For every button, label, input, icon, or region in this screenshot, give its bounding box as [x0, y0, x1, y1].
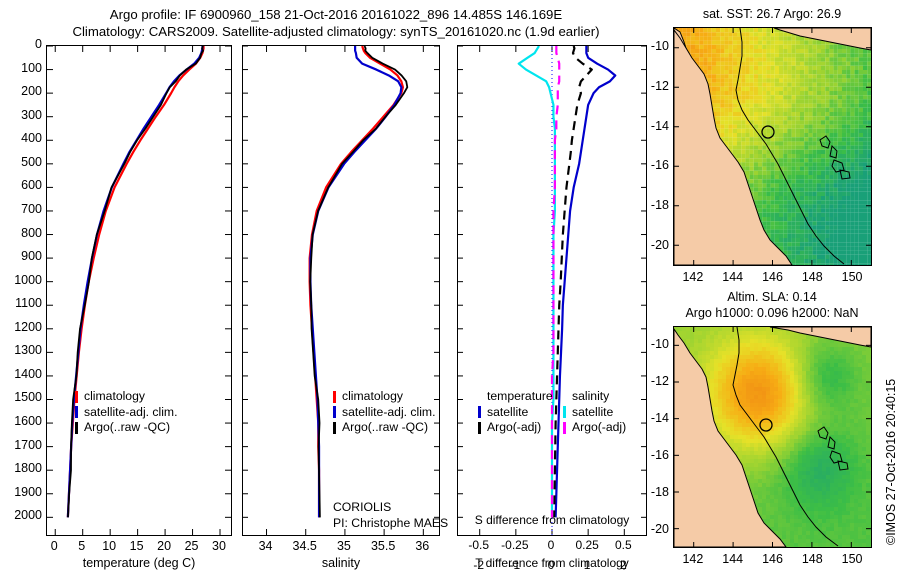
- legend-item-1: satellite-adj. clim.: [333, 405, 435, 421]
- sla-map-svg: [674, 327, 871, 547]
- y-tick-600: 600: [0, 178, 42, 192]
- sla-map-x-tick-148: 148: [792, 552, 832, 566]
- sst-map-y-tick--14: -14: [637, 119, 669, 133]
- legend-swatch-satellite_adj_clim: [75, 406, 78, 418]
- sst-map-x-tick-146: 146: [753, 270, 793, 284]
- salinity-profile-panel: [242, 45, 440, 536]
- legend-header: salinity: [572, 389, 626, 405]
- legend-item-0: climatology: [75, 389, 177, 405]
- x-tick-34: 34: [246, 539, 286, 553]
- legend-label-0: climatology: [342, 389, 403, 405]
- legend-item-0: satellite: [563, 405, 626, 421]
- t-difference-axis-label: T difference from climatology: [457, 556, 647, 570]
- sla-map-y-tick--20: -20: [637, 522, 669, 536]
- y-tick-500: 500: [0, 155, 42, 169]
- legend-swatch-climatology: [333, 391, 336, 403]
- sla-map-y-tick--14: -14: [637, 411, 669, 425]
- salinity-plot-svg: [243, 46, 439, 535]
- sla-map-y-tick--18: -18: [637, 485, 669, 499]
- s-difference-axis-label: S difference from climatology: [457, 513, 647, 527]
- sla-map-y-tick--10: -10: [637, 337, 669, 351]
- page-title: Argo profile: IF 6900960_158 21-Oct-2016…: [0, 6, 672, 40]
- legend-item-2: Argo(..raw -QC): [75, 420, 177, 436]
- sla-map-x-tick-150: 150: [832, 552, 872, 566]
- legend-swatch-temperature_satellite: [478, 406, 481, 418]
- sla-map-x-tick-144: 144: [713, 552, 753, 566]
- legend-item-1: Argo(-adj): [563, 420, 626, 436]
- y-tick-2000: 2000: [0, 508, 42, 522]
- y-tick-700: 700: [0, 202, 42, 216]
- legend-swatch-salinity_argo_adj: [563, 422, 566, 434]
- legend-swatch-argo_raw_qc: [333, 422, 336, 434]
- x-tick-36: 36: [402, 539, 442, 553]
- sst-map-y-tick--18: -18: [637, 198, 669, 212]
- salinity-axis-label: salinity: [242, 556, 440, 570]
- temperature-profile-panel: [46, 45, 232, 536]
- sla-map-title-line1: Altim. SLA: 0.14: [672, 290, 872, 304]
- legend-label-1: satellite-adj. clim.: [84, 405, 177, 421]
- legend-item-0: satellite: [478, 405, 553, 421]
- legend-label-1: Argo(-adj): [572, 420, 626, 436]
- sst-map-x-tick-148: 148: [792, 270, 832, 284]
- temperature-curves: [68, 46, 204, 517]
- title-line-2: Climatology: CARS2009. Satellite-adjuste…: [0, 23, 672, 40]
- legend-label-2: Argo(..raw -QC): [342, 420, 428, 436]
- x-tick-34.5: 34.5: [285, 539, 325, 553]
- y-tick-1400: 1400: [0, 367, 42, 381]
- difference-temperature-legend: temperaturesatelliteArgo(-adj): [478, 389, 553, 436]
- sst-map-svg: [674, 28, 871, 265]
- legend-swatch-salinity_satellite: [563, 406, 566, 418]
- y-tick-0: 0: [0, 37, 42, 51]
- legend-header: temperature: [487, 389, 553, 405]
- legend-swatch-satellite_adj_clim: [333, 406, 336, 418]
- sla-map-panel: [673, 326, 872, 548]
- y-tick-1900: 1900: [0, 485, 42, 499]
- y-tick-800: 800: [0, 226, 42, 240]
- legend-swatch-temperature_argo_adj: [478, 422, 481, 434]
- y-tick-300: 300: [0, 108, 42, 122]
- y-tick-100: 100: [0, 61, 42, 75]
- sla-map-y-tick--16: -16: [637, 448, 669, 462]
- title-line-1: Argo profile: IF 6900960_158 21-Oct-2016…: [0, 6, 672, 23]
- legend-label-1: satellite-adj. clim.: [342, 405, 435, 421]
- y-tick-400: 400: [0, 131, 42, 145]
- x-tick-35: 35: [324, 539, 364, 553]
- legend-label-0: satellite: [487, 405, 528, 421]
- y-tick-1500: 1500: [0, 390, 42, 404]
- pi-label: PI: Christophe MAES: [333, 516, 448, 532]
- imos-credit: ©IMOS 27-Oct-2016 20:40:15: [884, 379, 898, 545]
- salinity-legend: climatologysatellite-adj. clim.Argo(..ra…: [333, 389, 435, 436]
- sst-map-y-tick--20: -20: [637, 238, 669, 252]
- legend-item-1: Argo(-adj): [478, 420, 553, 436]
- sst-map-y-tick--12: -12: [637, 79, 669, 93]
- temperature-legend: climatologysatellite-adj. clim.Argo(..ra…: [75, 389, 177, 436]
- sla-map-y-tick--12: -12: [637, 374, 669, 388]
- legend-label-1: Argo(-adj): [487, 420, 541, 436]
- legend-label-0: satellite: [572, 405, 613, 421]
- difference-plot-svg: [458, 46, 646, 535]
- sst-map-y-tick--16: -16: [637, 158, 669, 172]
- legend-item-2: Argo(..raw -QC): [333, 420, 435, 436]
- sst-map-x-tick-150: 150: [832, 270, 872, 284]
- agency-label: CORIOLIS: [333, 500, 448, 516]
- y-tick-1800: 1800: [0, 461, 42, 475]
- sla-map-title-line2: Argo h1000: 0.096 h2000: NaN: [660, 306, 884, 320]
- x-tick-35.5: 35.5: [363, 539, 403, 553]
- sst-map-y-tick--10: -10: [637, 39, 669, 53]
- difference-curves: [519, 46, 616, 517]
- legend-label-2: Argo(..raw -QC): [84, 420, 170, 436]
- difference-salinity-legend: salinitysatelliteArgo(-adj): [563, 389, 626, 436]
- attribution-block: CORIOLIS PI: Christophe MAES: [333, 500, 448, 531]
- sst-map-x-tick-144: 144: [713, 270, 753, 284]
- y-tick-1100: 1100: [0, 296, 42, 310]
- y-tick-1600: 1600: [0, 414, 42, 428]
- legend-label-0: climatology: [84, 389, 145, 405]
- legend-swatch-argo_raw_qc: [75, 422, 78, 434]
- y-tick-1200: 1200: [0, 320, 42, 334]
- y-tick-1300: 1300: [0, 343, 42, 357]
- y-tick-900: 900: [0, 249, 42, 263]
- y-tick-200: 200: [0, 84, 42, 98]
- temperature-plot-svg: [47, 46, 231, 535]
- legend-swatch-climatology: [75, 391, 78, 403]
- y-tick-1000: 1000: [0, 273, 42, 287]
- sst-map-panel: [673, 27, 872, 266]
- salinity-curves: [310, 46, 408, 517]
- sla-map-x-tick-146: 146: [753, 552, 793, 566]
- temperature-axis-ticks: [47, 46, 231, 535]
- salinity-axis-ticks: [243, 46, 439, 535]
- x-tick-30: 30: [203, 539, 235, 553]
- s-tick-0.5: 0.5: [601, 538, 645, 552]
- sst-map-title: sat. SST: 26.7 Argo: 26.9: [672, 7, 872, 21]
- sst-map-x-tick-142: 142: [673, 270, 713, 284]
- y-tick-1700: 1700: [0, 438, 42, 452]
- temperature-axis-label: temperature (deg C): [46, 556, 232, 570]
- legend-item-0: climatology: [333, 389, 435, 405]
- difference-profile-panel: [457, 45, 647, 536]
- legend-item-1: satellite-adj. clim.: [75, 405, 177, 421]
- sla-map-x-tick-142: 142: [673, 552, 713, 566]
